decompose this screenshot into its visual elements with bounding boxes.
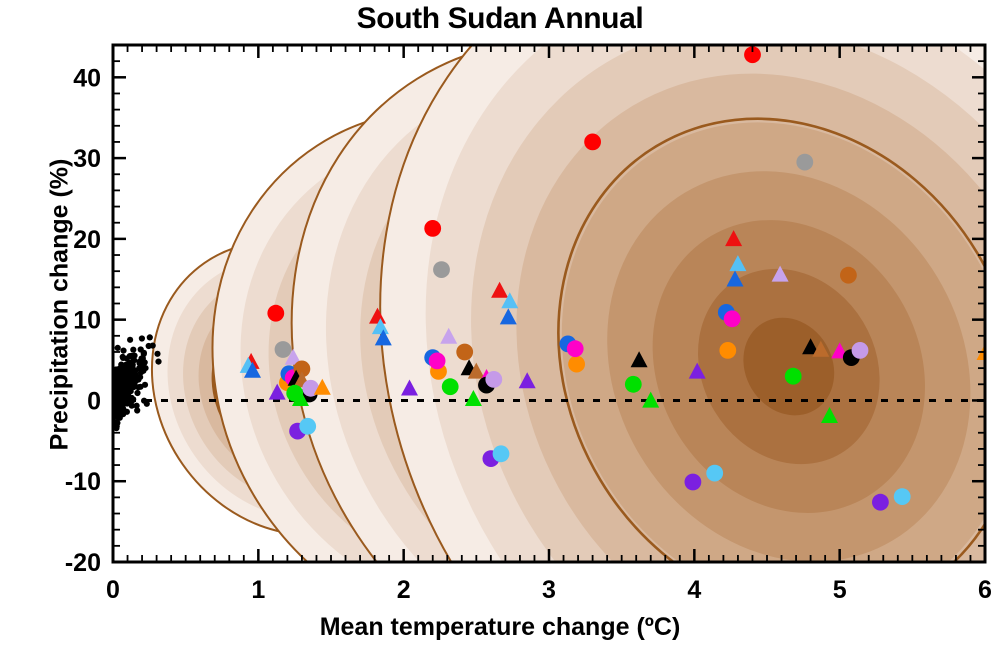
y-tick-label: 30 [73,145,101,173]
x-tick-label: 2 [397,576,411,604]
x-tick-label: 6 [978,576,992,604]
historical-baseline-points [69,334,161,470]
data-point-red-circle [584,134,601,151]
x-tick-label: 0 [106,576,120,604]
y-tick-label: 20 [73,226,101,254]
data-point-cyan-circle [894,488,911,505]
data-point-green-circle [785,368,802,385]
y-tick-label: 0 [87,387,101,415]
data-point-red-circle [424,220,441,237]
data-point-green-circle [625,376,642,393]
data-point-purple-circle [685,474,702,491]
data-point-green-circle [442,378,459,395]
data-point-purple-circle [872,494,889,511]
data-point-magenta-circle [429,353,446,370]
data-point-magenta-circle [724,310,741,327]
data-point-brown-circle [456,344,473,361]
data-point-lightpurple-circle [852,342,869,359]
data-point-grey-circle [433,261,450,278]
chart-figure: South Sudan Annual Precipitation change … [0,0,1000,657]
scatter-plot-canvas: 0123456-20-10010203040 [0,0,1000,657]
data-point-grey-circle [796,154,813,171]
y-tick-label: -20 [65,549,101,577]
y-tick-label: 40 [73,64,101,92]
data-point-orange-circle [568,356,585,373]
y-tick-label: -10 [65,468,101,496]
baseline-cloud-layer [69,334,161,470]
data-point-magenta-circle [567,340,584,357]
x-tick-label: 4 [687,576,701,604]
data-point-lightpurple-circle [485,371,502,388]
x-tick-label: 1 [251,576,265,604]
density-ellipse-layer [95,0,1000,657]
data-point-grey-circle [275,341,292,358]
data-point-cyan-circle [493,445,510,462]
data-point-brown-circle [840,267,857,284]
x-tick-label: 5 [833,576,847,604]
x-tick-label: 3 [542,576,556,604]
data-point-red-circle [267,305,284,322]
data-point-orange-circle [719,342,736,359]
y-tick-label: 10 [73,307,101,335]
data-point-cyan-circle [299,418,316,435]
data-point-cyan-circle [706,465,723,482]
